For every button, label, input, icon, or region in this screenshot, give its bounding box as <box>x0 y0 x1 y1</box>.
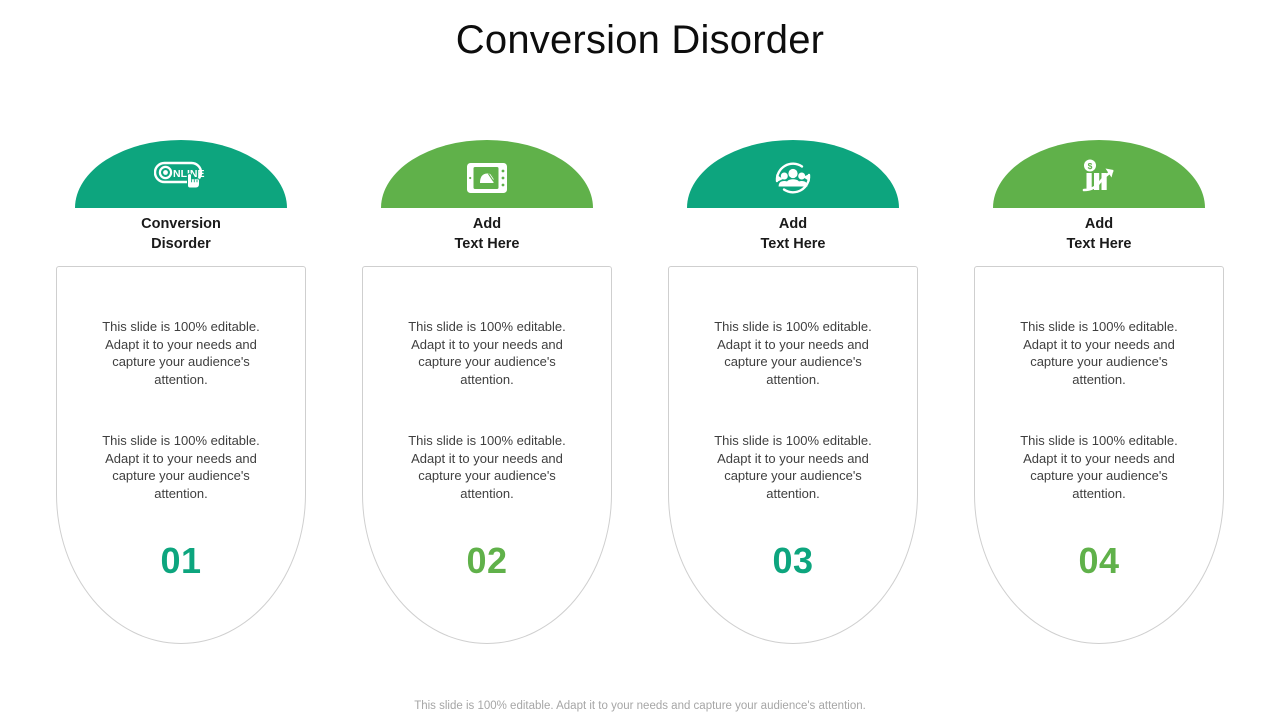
column-1[interactable]: NLINE Conversion Disorder This slide is … <box>56 140 306 650</box>
card-paragraph-2a: This slide is 100% editable. Adapt it to… <box>394 318 580 388</box>
column-heading-2: Add Text Here <box>362 215 612 254</box>
dome-4: $ <box>993 140 1205 208</box>
card-paragraph-1a: This slide is 100% editable. Adapt it to… <box>88 318 274 388</box>
dome-1: NLINE <box>75 140 287 208</box>
dome-3 <box>687 140 899 208</box>
card-paragraph-3b: This slide is 100% editable. Adapt it to… <box>700 432 886 502</box>
column-heading-4: Add Text Here <box>974 215 1224 254</box>
card-3[interactable]: This slide is 100% editable. Adapt it to… <box>668 266 918 644</box>
card-paragraph-4b: This slide is 100% editable. Adapt it to… <box>1006 432 1192 502</box>
card-4[interactable]: This slide is 100% editable. Adapt it to… <box>974 266 1224 644</box>
card-paragraph-3a: This slide is 100% editable. Adapt it to… <box>700 318 886 388</box>
page-title: Conversion Disorder <box>0 16 1280 64</box>
card-paragraph-4a: This slide is 100% editable. Adapt it to… <box>1006 318 1192 388</box>
card-number-1: 01 <box>160 540 201 582</box>
people-refresh-icon <box>764 156 822 200</box>
card-2[interactable]: This slide is 100% editable. Adapt it to… <box>362 266 612 644</box>
card-paragraph-2b: This slide is 100% editable. Adapt it to… <box>394 432 580 502</box>
tablet-media-icon <box>458 156 516 200</box>
card-number-4: 04 <box>1078 540 1119 582</box>
online-click-icon: NLINE <box>152 156 210 200</box>
card-number-3: 03 <box>772 540 813 582</box>
slide-canvas: Conversion Disorder NLINE Conversion Di <box>0 0 1280 720</box>
columns-container: NLINE Conversion Disorder This slide is … <box>56 140 1224 650</box>
column-3[interactable]: Add Text Here This slide is 100% editabl… <box>668 140 918 650</box>
growth-chart-dollar-icon: $ <box>1070 156 1128 200</box>
footer-note: This slide is 100% editable. Adapt it to… <box>0 700 1280 712</box>
column-4[interactable]: $ Add Text Here This slide is 100% edita… <box>974 140 1224 650</box>
card-number-2: 02 <box>466 540 507 582</box>
column-heading-1: Conversion Disorder <box>56 215 306 254</box>
card-paragraph-1b: This slide is 100% editable. Adapt it to… <box>88 432 274 502</box>
column-2[interactable]: Add Text Here This slide is 100% editabl… <box>362 140 612 650</box>
card-1[interactable]: This slide is 100% editable. Adapt it to… <box>56 266 306 644</box>
dome-2 <box>381 140 593 208</box>
svg-text:$: $ <box>1088 161 1093 171</box>
column-heading-3: Add Text Here <box>668 215 918 254</box>
